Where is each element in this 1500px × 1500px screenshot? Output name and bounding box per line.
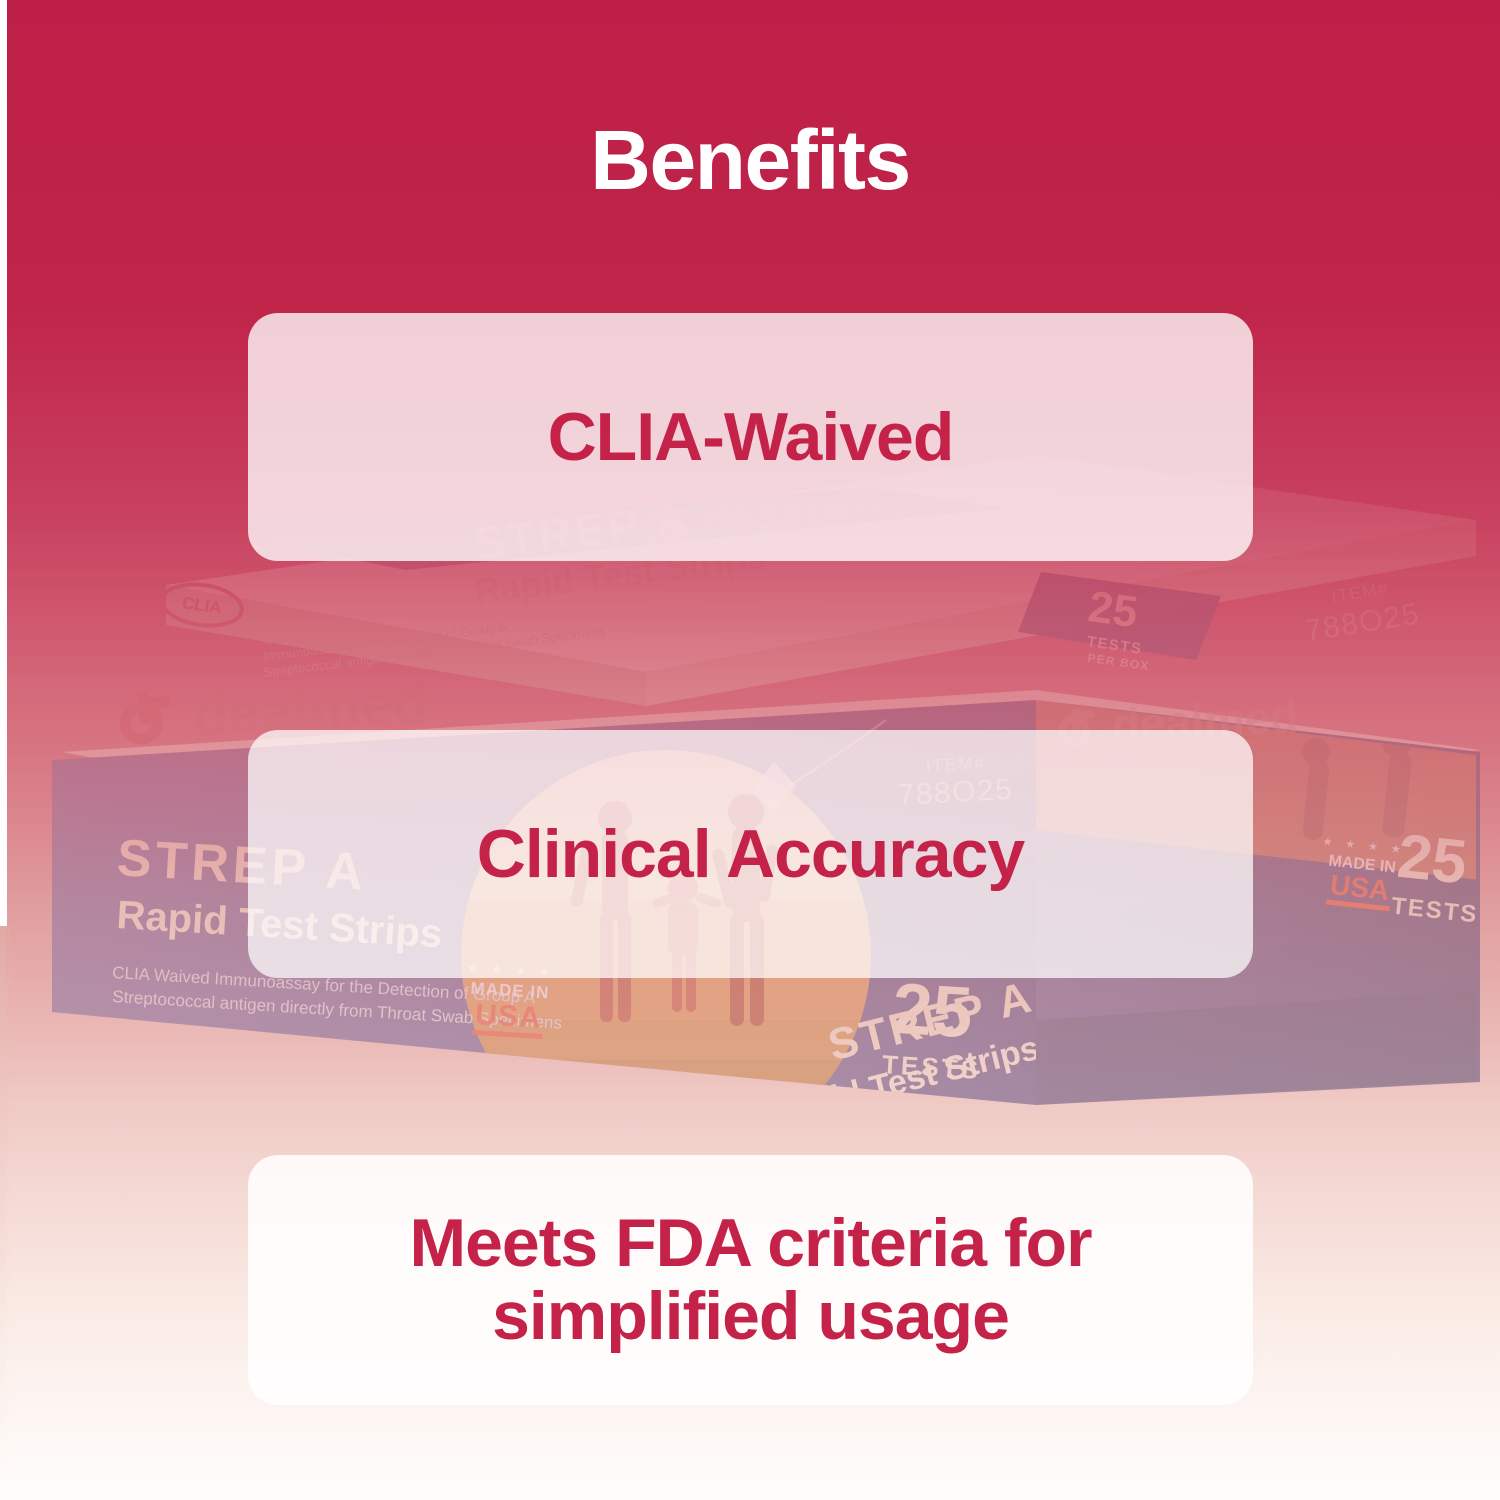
benefit-card-clia-waived[interactable]: CLIA-Waived — [248, 313, 1253, 561]
svg-text:USA: USA — [1329, 869, 1391, 906]
page-title: Benefits — [0, 118, 1500, 202]
product-benefits-graphic: 25 TESTS PER BOX CLIA STREP A Rapid Test… — [0, 0, 1500, 1500]
benefit-label: CLIA-Waived — [548, 398, 954, 476]
svg-text:25: 25 — [1394, 822, 1470, 898]
benefit-card-fda-criteria[interactable]: Meets FDA criteria for simplified usage — [248, 1155, 1253, 1405]
benefit-label-line2: simplified usage — [409, 1280, 1091, 1353]
svg-text:25: 25 — [1085, 582, 1140, 637]
svg-text:788O25: 788O25 — [1303, 597, 1423, 648]
benefit-label-line1: Meets FDA criteria for — [409, 1207, 1091, 1280]
benefit-card-clinical-accuracy[interactable]: Clinical Accuracy — [248, 730, 1253, 978]
svg-text:USA: USA — [474, 998, 542, 1035]
benefit-label: Clinical Accuracy — [477, 815, 1024, 893]
